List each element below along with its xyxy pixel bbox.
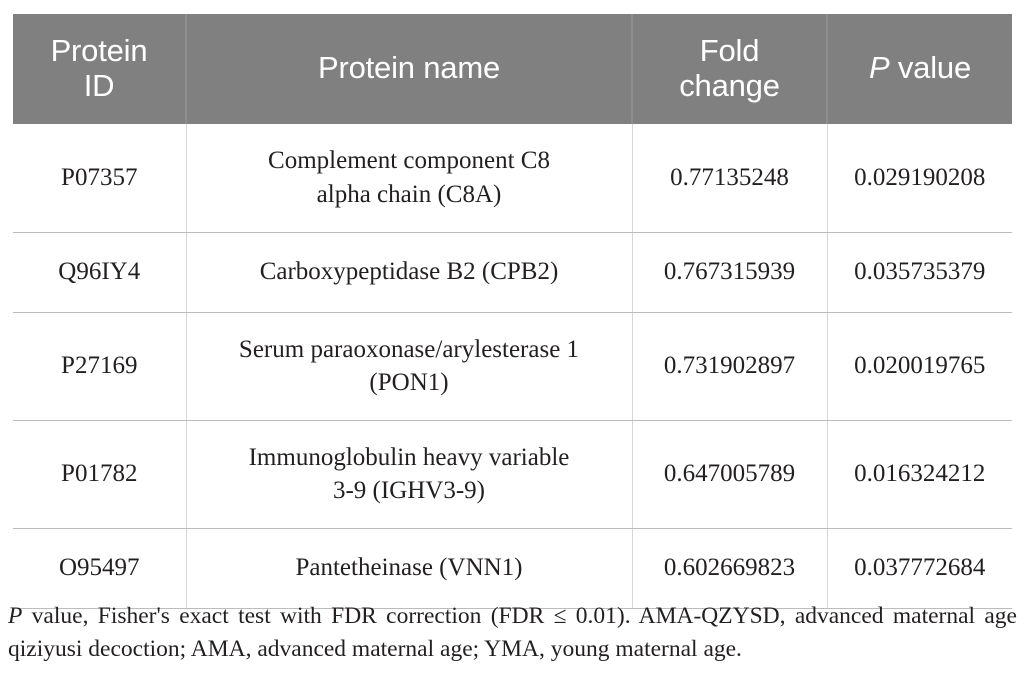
table-figure-page: Protein ID Protein name Fold change P va… bbox=[0, 0, 1025, 679]
header-row: Protein ID Protein name Fold change P va… bbox=[13, 14, 1012, 124]
footnote-italic-p: P bbox=[8, 603, 22, 629]
cell-protein-name: Pantetheinase (VNN1) bbox=[186, 528, 632, 608]
column-header-protein-id-line1: Protein bbox=[51, 33, 148, 68]
column-header-protein-id-line2: ID bbox=[84, 68, 115, 103]
table-header: Protein ID Protein name Fold change P va… bbox=[13, 14, 1012, 124]
cell-protein-id: Q96IY4 bbox=[13, 232, 186, 312]
cell-fold-change: 0.767315939 bbox=[632, 232, 827, 312]
cell-p-value: 0.029190208 bbox=[827, 124, 1012, 232]
protein-table-container: Protein ID Protein name Fold change P va… bbox=[13, 14, 1012, 609]
cell-p-value: 0.020019765 bbox=[827, 312, 1012, 420]
column-header-p-value-italic-p: P bbox=[869, 50, 889, 85]
column-header-fold-change: Fold change bbox=[632, 14, 827, 124]
column-header-protein-name-label: Protein name bbox=[318, 50, 500, 85]
cell-fold-change: 0.731902897 bbox=[632, 312, 827, 420]
cell-p-value: 0.016324212 bbox=[827, 420, 1012, 528]
cell-fold-change: 0.647005789 bbox=[632, 420, 827, 528]
table-row: P07357 Complement component C8 alpha cha… bbox=[13, 124, 1012, 232]
cell-fold-change: 0.77135248 bbox=[632, 124, 827, 232]
cell-protein-name: Serum paraoxonase/arylesterase 1 (PON1) bbox=[186, 312, 632, 420]
cell-protein-id: P07357 bbox=[13, 124, 186, 232]
table-row: Q96IY4 Carboxypeptidase B2 (CPB2) 0.7673… bbox=[13, 232, 1012, 312]
table-body: P07357 Complement component C8 alpha cha… bbox=[13, 124, 1012, 608]
cell-protein-name: Complement component C8 alpha chain (C8A… bbox=[186, 124, 632, 232]
column-header-protein-id: Protein ID bbox=[13, 14, 186, 124]
table-row: P01782 Immunoglobulin heavy variable 3-9… bbox=[13, 420, 1012, 528]
column-header-fold-change-line1: Fold bbox=[700, 33, 760, 68]
cell-protein-id: O95497 bbox=[13, 528, 186, 608]
cell-protein-name-line1: Serum paraoxonase/arylesterase 1 bbox=[239, 336, 579, 363]
table-row: O95497 Pantetheinase (VNN1) 0.602669823 … bbox=[13, 528, 1012, 608]
cell-protein-id: P27169 bbox=[13, 312, 186, 420]
cell-p-value: 0.037772684 bbox=[827, 528, 1012, 608]
cell-fold-change: 0.602669823 bbox=[632, 528, 827, 608]
table-footnote: P value, Fisher's exact test with FDR co… bbox=[8, 600, 1017, 667]
cell-protein-name-line1: Complement component C8 bbox=[268, 147, 550, 174]
cell-protein-name: Immunoglobulin heavy variable 3-9 (IGHV3… bbox=[186, 420, 632, 528]
protein-results-table: Protein ID Protein name Fold change P va… bbox=[13, 14, 1012, 609]
cell-protein-name: Carboxypeptidase B2 (CPB2) bbox=[186, 232, 632, 312]
table-row: P27169 Serum paraoxonase/arylesterase 1 … bbox=[13, 312, 1012, 420]
column-header-p-value-rest: value bbox=[889, 50, 971, 85]
cell-protein-name-line2: (PON1) bbox=[369, 369, 448, 396]
cell-p-value: 0.035735379 bbox=[827, 232, 1012, 312]
cell-protein-id: P01782 bbox=[13, 420, 186, 528]
column-header-p-value: P value bbox=[827, 14, 1012, 124]
cell-protein-name-line2: alpha chain (C8A) bbox=[317, 181, 502, 208]
cell-protein-name-line2: 3-9 (IGHV3-9) bbox=[333, 477, 485, 504]
column-header-fold-change-line2: change bbox=[679, 68, 780, 103]
footnote-text: value, Fisher's exact test with FDR corr… bbox=[8, 603, 1017, 662]
cell-protein-name-line1: Immunoglobulin heavy variable bbox=[249, 444, 570, 471]
column-header-protein-name: Protein name bbox=[186, 14, 632, 124]
